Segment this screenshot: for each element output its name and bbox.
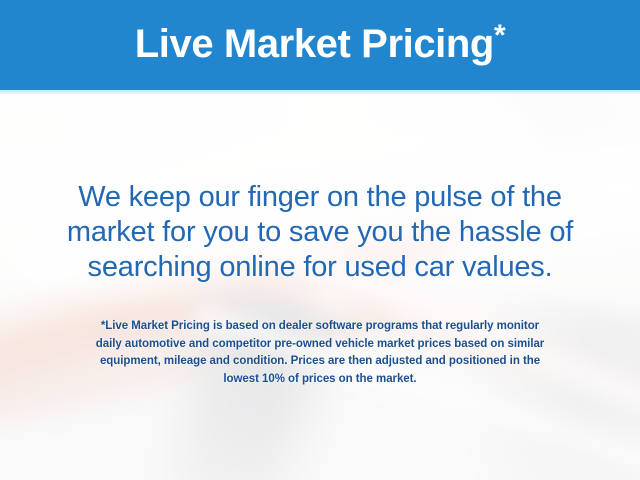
page-title-text: Live Market Pricing: [135, 22, 494, 66]
page-title: Live Market Pricing*: [135, 24, 505, 64]
photo-white-overlay: [0, 90, 640, 480]
page-title-asterisk: *: [494, 19, 505, 52]
live-market-pricing-card: Live Market Pricing* We keep our finger …: [0, 0, 640, 480]
car-photo-background: [0, 90, 640, 480]
header-banner: Live Market Pricing*: [0, 0, 640, 90]
header-underline-rule: [0, 90, 640, 94]
